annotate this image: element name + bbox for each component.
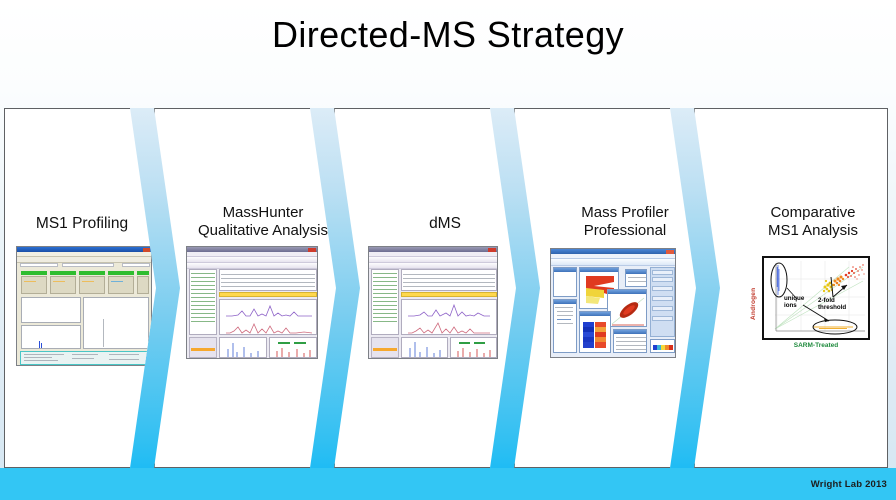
scatter-window[interactable] xyxy=(607,289,647,327)
spectrum-pane xyxy=(83,297,149,349)
row xyxy=(373,281,397,282)
row xyxy=(191,321,215,322)
row xyxy=(191,281,215,282)
table-row xyxy=(403,286,495,287)
text-line xyxy=(72,354,98,355)
status-bar-green xyxy=(50,271,76,275)
step-panel-dms[interactable]: dMS xyxy=(334,108,520,468)
text-line xyxy=(72,358,94,359)
step-label-comparative-ms1-analysis: Comparative MS1 Analysis xyxy=(694,204,896,241)
close-icon[interactable] xyxy=(666,250,674,254)
chromatogram-pane[interactable] xyxy=(401,299,497,335)
colorbar xyxy=(651,341,675,353)
instrument-tile xyxy=(50,276,76,294)
row xyxy=(191,301,215,302)
scatter-figure[interactable]: unique ions 2-fold threshold xyxy=(762,256,870,340)
table-row xyxy=(403,282,495,283)
spectrum-pane-left[interactable] xyxy=(219,337,267,358)
page-title: Directed-MS Strategy xyxy=(0,14,896,56)
row xyxy=(373,305,397,306)
sidebar-button[interactable] xyxy=(652,316,673,321)
row xyxy=(373,317,397,318)
cluster-heatmap-window[interactable] xyxy=(579,311,611,353)
table-row xyxy=(616,341,646,342)
screenshot-dms[interactable] xyxy=(368,246,498,359)
annotation-unique-ions: unique ions xyxy=(784,296,804,310)
row xyxy=(191,297,215,298)
table-row xyxy=(616,349,646,350)
footer-band xyxy=(0,468,896,500)
tree-item xyxy=(555,307,573,308)
trace xyxy=(41,343,42,348)
slide-canvas: Directed-MS Strategy MS1 Profiling xyxy=(0,0,896,500)
cluster-heatmap xyxy=(580,316,611,353)
text-line xyxy=(109,359,139,360)
titlebar xyxy=(551,249,675,254)
pane-title xyxy=(626,270,646,274)
row xyxy=(191,305,215,306)
table-row xyxy=(616,345,646,346)
point-cloud-orange xyxy=(833,276,844,287)
field xyxy=(62,263,114,267)
trace xyxy=(39,341,40,348)
chromatogram-pane xyxy=(21,297,81,323)
table-row xyxy=(628,277,646,278)
tree-item xyxy=(557,319,571,320)
pane-title xyxy=(554,268,576,272)
text-line xyxy=(24,354,64,355)
instrument-tile xyxy=(21,276,47,294)
row xyxy=(373,297,397,298)
table-row xyxy=(221,286,315,287)
close-icon[interactable] xyxy=(308,248,316,252)
spectrum-pane-right[interactable] xyxy=(269,337,317,358)
table-top-right[interactable] xyxy=(625,269,647,287)
status-bar-green xyxy=(137,271,149,275)
screenshot-masshunter-qualitative-analysis[interactable] xyxy=(186,246,318,359)
spectrum-peaks xyxy=(220,338,267,358)
row xyxy=(373,289,397,290)
row xyxy=(191,277,215,278)
row xyxy=(191,289,215,290)
screenshot-comparative-ms1-analysis[interactable]: Androgen xyxy=(750,252,870,356)
screenshot-ms1-profiling[interactable] xyxy=(16,246,152,366)
table-row xyxy=(403,274,495,275)
row xyxy=(373,293,397,294)
experiment-tree[interactable] xyxy=(553,267,577,297)
close-icon[interactable] xyxy=(143,248,150,252)
titlebar xyxy=(17,247,151,252)
table-row xyxy=(616,337,646,338)
figure-y-axis-label: Androgen xyxy=(750,270,757,320)
selected-item xyxy=(191,348,215,351)
annotated-spectrum xyxy=(270,338,317,358)
sidebar-button[interactable] xyxy=(652,270,673,275)
credit-label: Wright Lab 2013 xyxy=(811,479,887,490)
table-row xyxy=(221,282,315,283)
status-bar-green xyxy=(108,271,134,275)
results-table[interactable] xyxy=(219,269,317,291)
table-row xyxy=(628,281,646,282)
instrument-tile xyxy=(79,276,105,294)
step-panel-masshunter-qualitative-analysis[interactable]: MassHunter Qualitative Analysis xyxy=(154,108,340,468)
row xyxy=(373,309,397,310)
row xyxy=(191,309,215,310)
process-flow-diagram: MS1 Profiling xyxy=(0,108,896,468)
colorbar-legend xyxy=(650,339,675,353)
pane-title xyxy=(614,330,646,334)
row xyxy=(191,285,215,286)
spectrum-pane-left[interactable] xyxy=(401,337,448,358)
sidebar-button[interactable] xyxy=(652,296,673,301)
close-icon[interactable] xyxy=(488,248,496,252)
instrument-tile xyxy=(137,276,149,294)
sidebar-button[interactable] xyxy=(652,277,673,282)
field xyxy=(122,263,150,267)
tree-item xyxy=(557,315,573,316)
row xyxy=(373,313,397,314)
sidebar-button[interactable] xyxy=(652,306,673,311)
step-panel-mass-profiler-professional[interactable]: Mass Profiler Professional xyxy=(514,108,700,468)
instrument-tile xyxy=(108,276,134,294)
row xyxy=(191,317,215,318)
chromatogram-traces xyxy=(220,300,317,335)
sidebar-button[interactable] xyxy=(652,286,673,291)
step-panel-comparative-ms1-analysis[interactable]: Comparative MS1 Analysis Androgen xyxy=(694,108,888,468)
screenshot-mass-profiler-professional[interactable] xyxy=(550,248,676,358)
annotation-two-fold-threshold: 2-fold threshold xyxy=(818,298,846,312)
scatter-plot-svg xyxy=(767,261,865,335)
text-line xyxy=(82,281,94,282)
chromatogram-pane-2 xyxy=(21,325,81,349)
spectrum-peaks xyxy=(402,338,448,358)
row xyxy=(191,293,215,294)
text-line xyxy=(24,281,36,282)
text-line xyxy=(53,281,65,282)
selected-item xyxy=(373,348,397,351)
trace xyxy=(103,319,104,347)
toolbar xyxy=(551,259,675,266)
row xyxy=(191,273,215,274)
point-cloud-red xyxy=(845,264,865,279)
chromatogram-pane[interactable] xyxy=(219,299,317,335)
tree-item xyxy=(557,311,573,312)
feature-list[interactable] xyxy=(371,269,399,335)
pane-title xyxy=(554,300,576,304)
figure-x-axis-label: SARM-Treated xyxy=(762,342,870,349)
feature-list[interactable] xyxy=(189,269,217,335)
entity-table[interactable] xyxy=(613,329,647,353)
row xyxy=(373,277,397,278)
text-line xyxy=(24,360,58,361)
text-line xyxy=(24,357,52,358)
status-bar-green xyxy=(79,271,105,275)
status-bar-green xyxy=(21,271,47,275)
titlebar xyxy=(187,247,317,252)
titlebar xyxy=(369,247,497,252)
chromatogram-traces xyxy=(402,300,497,335)
scatter-plot xyxy=(608,294,647,327)
table-row xyxy=(221,274,315,275)
row xyxy=(373,301,397,302)
results-table[interactable] xyxy=(401,269,497,291)
tree-item xyxy=(557,323,573,324)
row xyxy=(373,321,397,322)
text-line xyxy=(111,281,123,282)
spectrum-pane-right[interactable] xyxy=(450,337,497,358)
highlight-bar xyxy=(401,292,497,297)
highlight-bar xyxy=(219,292,317,297)
plot-area xyxy=(767,261,865,335)
row xyxy=(191,313,215,314)
field xyxy=(20,263,58,267)
table-row xyxy=(221,278,315,279)
row xyxy=(373,285,397,286)
row xyxy=(373,273,397,274)
text-line xyxy=(109,354,139,355)
step-panel-ms1-profiling[interactable]: MS1 Profiling xyxy=(4,108,160,468)
annotated-spectrum xyxy=(451,338,497,358)
table-row xyxy=(403,278,495,279)
